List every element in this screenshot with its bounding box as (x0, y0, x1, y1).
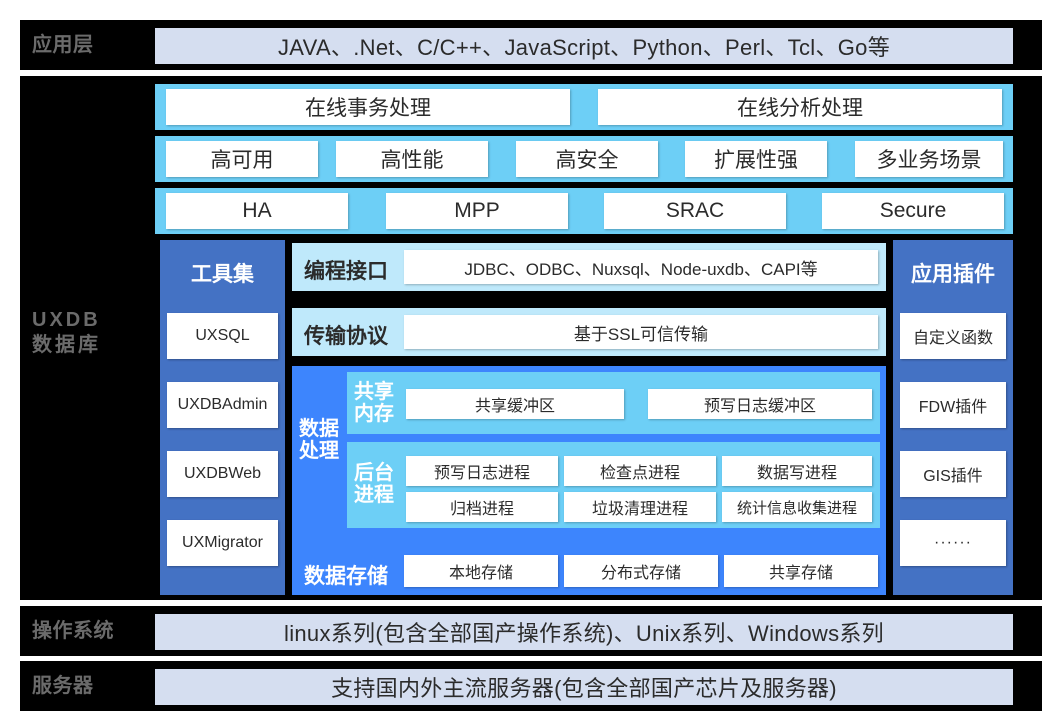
os-layer-bar: linux系列(包含全部国产操作系统)、Unix系列、Windows系列 (155, 614, 1013, 650)
data-storage-chip[interactable]: 共享存储 (724, 555, 878, 587)
programming-interface-tag: 编程接口 (296, 255, 396, 285)
capability-chip[interactable]: 高性能 (336, 141, 488, 177)
background-process-chip[interactable]: 数据写进程 (722, 456, 872, 486)
toolset-item-uxmigrator[interactable]: UXMigrator (167, 520, 278, 566)
server-layer-bar: 支持国内外主流服务器(包含全部国产芯片及服务器) (155, 669, 1013, 705)
shared-memory-tag: 共享 内存 (352, 381, 396, 426)
feature-chip[interactable]: HA (166, 193, 348, 229)
data-storage-tag: 数据存储 (296, 560, 396, 590)
background-process-chip[interactable]: 预写日志进程 (406, 456, 558, 486)
processing-mode-chip[interactable]: 在线事务处理 (166, 89, 570, 125)
background-process-chip[interactable]: 检查点进程 (564, 456, 716, 486)
plugins-title: 应用插件 (893, 258, 1013, 288)
background-processes-tag: 后台 进程 (352, 462, 396, 507)
data-storage-chip[interactable]: 本地存储 (404, 555, 558, 587)
os-layer-label: 操作系统 (32, 619, 162, 644)
background-process-chip[interactable]: 归档进程 (406, 492, 558, 522)
feature-chip[interactable]: SRAC (604, 193, 786, 229)
plugin-item-fdw[interactable]: FDW插件 (900, 382, 1006, 428)
shared-memory-item-buffer[interactable]: 共享缓冲区 (406, 389, 624, 419)
toolset-item-uxdbadmin[interactable]: UXDBAdmin (167, 382, 278, 428)
transport-protocol-tag: 传输协议 (296, 320, 396, 350)
background-process-chip[interactable]: 垃圾清理进程 (564, 492, 716, 522)
database-layer-label: UXDB 数据库 (32, 308, 162, 358)
plugin-item-more[interactable]: ······ (900, 520, 1006, 566)
feature-chip[interactable]: Secure (822, 193, 1004, 229)
data-processing-tag: 数据 处理 (296, 418, 342, 463)
transport-protocol-value[interactable]: 基于SSL可信传输 (404, 315, 878, 349)
processing-mode-chip[interactable]: 在线分析处理 (598, 89, 1002, 125)
background-process-chip[interactable]: 统计信息收集进程 (722, 492, 872, 522)
toolset-title: 工具集 (160, 258, 285, 288)
architecture-diagram: 应用层 JAVA、.Net、C/C++、JavaScript、Python、Pe… (0, 0, 1062, 727)
shared-memory-item-wal-buffer[interactable]: 预写日志缓冲区 (648, 389, 872, 419)
toolset-item-uxdbweb[interactable]: UXDBWeb (167, 451, 278, 497)
toolset-item-uxsql[interactable]: UXSQL (167, 313, 278, 359)
feature-chip[interactable]: MPP (386, 193, 568, 229)
server-layer-label: 服务器 (32, 674, 162, 699)
application-layer-bar: JAVA、.Net、C/C++、JavaScript、Python、Perl、T… (155, 28, 1013, 64)
plugin-item-custom-function[interactable]: 自定义函数 (900, 313, 1006, 359)
capability-chip[interactable]: 多业务场景 (855, 141, 1003, 177)
capability-chip[interactable]: 扩展性强 (685, 141, 827, 177)
capability-chip[interactable]: 高可用 (166, 141, 318, 177)
application-layer-label: 应用层 (32, 33, 152, 58)
data-storage-chip[interactable]: 分布式存储 (564, 555, 718, 587)
plugin-item-gis[interactable]: GIS插件 (900, 451, 1006, 497)
programming-interface-value[interactable]: JDBC、ODBC、Nuxsql、Node-uxdb、CAPI等 (404, 250, 878, 284)
capability-chip[interactable]: 高安全 (516, 141, 658, 177)
